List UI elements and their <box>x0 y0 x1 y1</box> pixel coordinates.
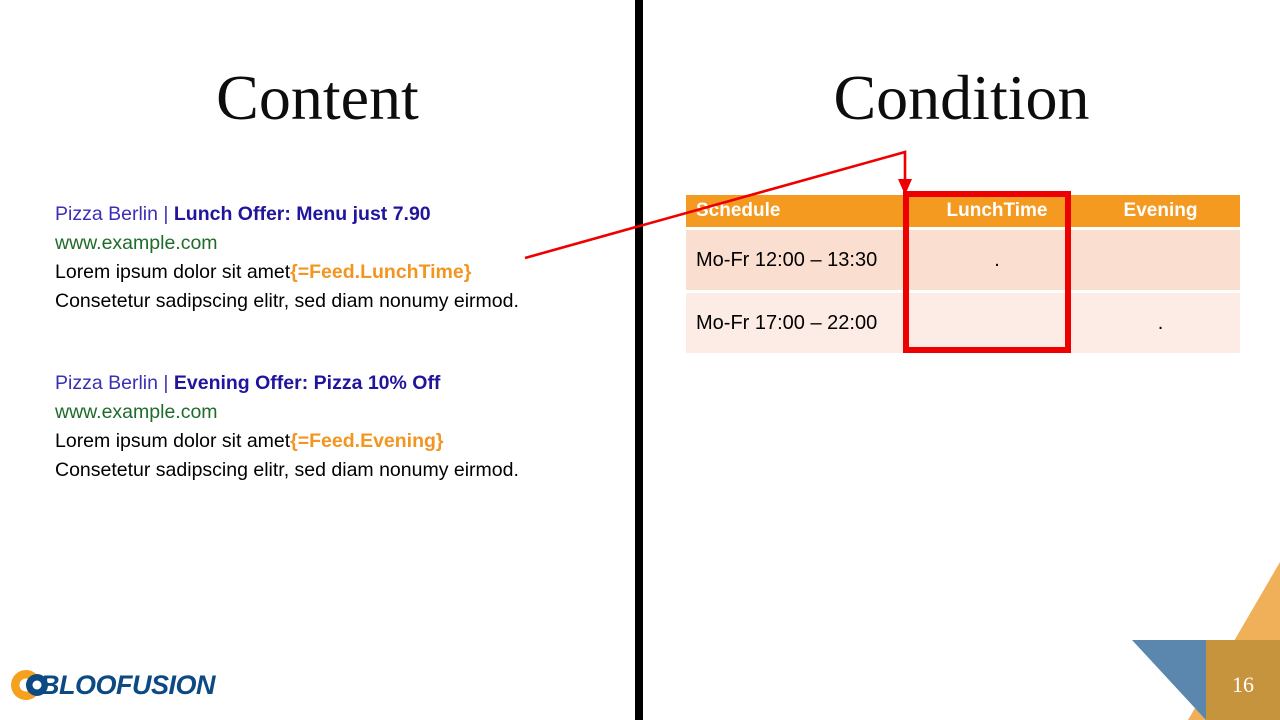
table-row: Mo-Fr 12:00 – 13:30 . <box>686 230 1240 293</box>
ad-description-text-2: Consetetur sadipscing elitr, sed diam no… <box>55 290 519 312</box>
left-panel-title: Content <box>0 66 635 130</box>
ad-display-url: www.example.com <box>55 232 218 254</box>
ad-display-url-line: www.example.com <box>55 398 615 427</box>
ad-description-line-2: Consetetur sadipscing elitr, sed diam no… <box>55 287 615 316</box>
ad-preview-lunch: Pizza Berlin | Lunch Offer: Menu just 7.… <box>55 200 615 316</box>
ad-description-text-2: Consetetur sadipscing elitr, sed diam no… <box>55 459 519 481</box>
condition-table: Schedule LunchTime Evening Mo-Fr 12:00 –… <box>686 195 1240 353</box>
ad-title-line: Pizza Berlin | Lunch Offer: Menu just 7.… <box>55 200 615 229</box>
ad-preview-evening: Pizza Berlin | Evening Offer: Pizza 10% … <box>55 369 615 485</box>
ad-headline: Lunch Offer: Menu just 7.90 <box>174 203 431 225</box>
column-header-lunchtime: LunchTime <box>913 195 1081 230</box>
ad-separator: | <box>158 203 174 225</box>
cell-schedule: Mo-Fr 12:00 – 13:30 <box>686 230 913 293</box>
cell-evening: . <box>1081 293 1240 353</box>
ad-feed-token: {=Feed.Evening} <box>290 430 443 452</box>
ad-description-text: Lorem ipsum dolor sit amet <box>55 261 290 283</box>
slide-canvas: Content Condition Pizza Berlin | Lunch O… <box>0 0 1280 720</box>
page-number: 16 <box>1232 672 1254 698</box>
vertical-divider <box>635 0 643 720</box>
corner-decoration <box>1120 540 1280 720</box>
ad-brand-name: Pizza Berlin <box>55 372 158 394</box>
table-header: Schedule LunchTime Evening <box>686 195 1240 230</box>
cell-lunchtime: . <box>913 230 1081 293</box>
ad-brand-name: Pizza Berlin <box>55 203 158 225</box>
table-body: Mo-Fr 12:00 – 13:30 . Mo-Fr 17:00 – 22:0… <box>686 230 1240 353</box>
column-header-evening: Evening <box>1081 195 1240 230</box>
column-header-schedule: Schedule <box>686 195 913 230</box>
ad-separator: | <box>158 372 174 394</box>
bloofusion-logo: BLOOFUSION <box>10 666 215 704</box>
ad-feed-token: {=Feed.LunchTime} <box>290 261 471 283</box>
ad-headline: Evening Offer: Pizza 10% Off <box>174 372 441 394</box>
table-row: Mo-Fr 17:00 – 22:00 . <box>686 293 1240 353</box>
ad-display-url-line: www.example.com <box>55 229 615 258</box>
bloofusion-wordmark: BLOOFUSION <box>40 670 215 701</box>
ad-description-line-1: Lorem ipsum dolor sit amet{=Feed.Evening… <box>55 427 615 456</box>
cell-marker-dot: . <box>1158 313 1164 333</box>
right-panel-title: Condition <box>643 66 1280 130</box>
ad-display-url: www.example.com <box>55 401 218 423</box>
ad-description-line-1: Lorem ipsum dolor sit amet{=Feed.LunchTi… <box>55 258 615 287</box>
cell-marker-dot: . <box>994 250 1000 270</box>
ad-description-line-2: Consetetur sadipscing elitr, sed diam no… <box>55 456 615 485</box>
cell-evening <box>1081 230 1240 293</box>
ad-description-text: Lorem ipsum dolor sit amet <box>55 430 290 452</box>
arrow-head <box>898 179 912 195</box>
table-header-row: Schedule LunchTime Evening <box>686 195 1240 230</box>
cell-schedule: Mo-Fr 17:00 – 22:00 <box>686 293 913 353</box>
cell-lunchtime <box>913 293 1081 353</box>
ad-title-line: Pizza Berlin | Evening Offer: Pizza 10% … <box>55 369 615 398</box>
